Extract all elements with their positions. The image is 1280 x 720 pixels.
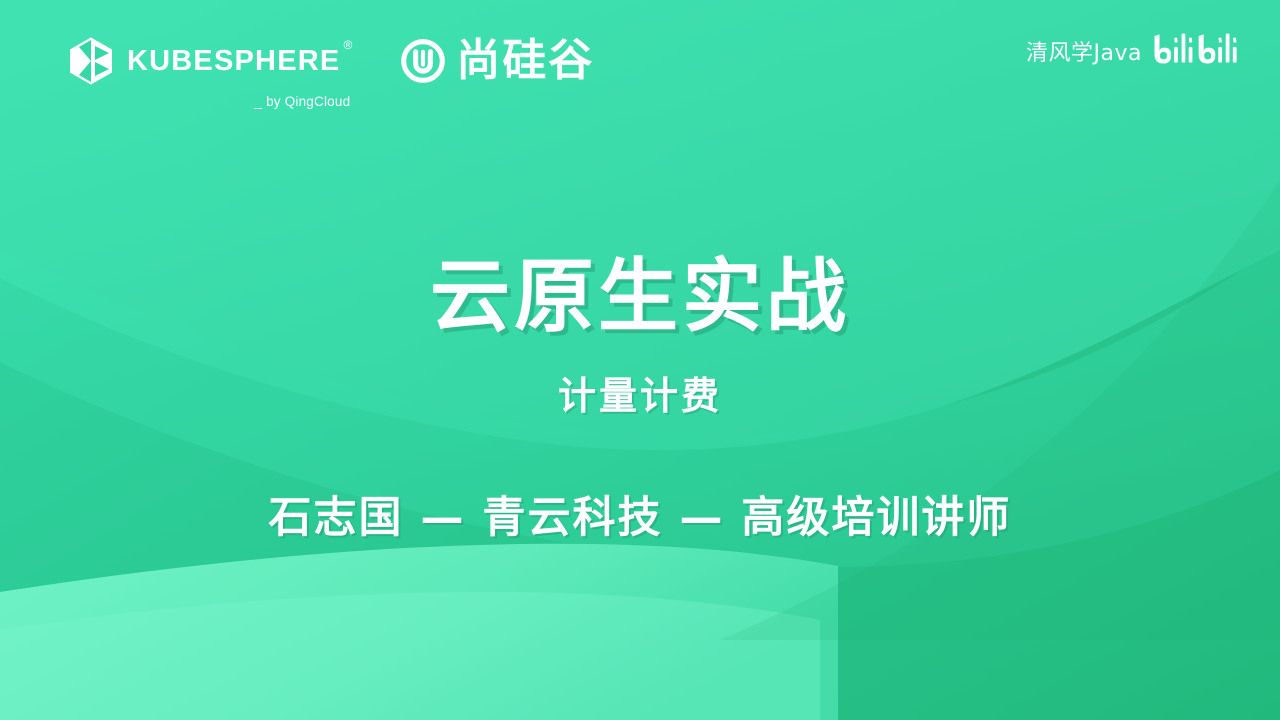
kubesphere-tagline: _ by QingCloud (254, 94, 350, 109)
presenter-credit: 石志国 — 青云科技 — 高级培训讲师 (0, 483, 1280, 545)
page-subtitle: 计量计费 (0, 365, 1280, 420)
channel-name: 清风学Java (1026, 35, 1142, 67)
channel-credit-group: 清风学Java (1026, 30, 1252, 72)
registered-trademark-icon: ® (343, 39, 352, 51)
page-title: 云原生实战 (0, 255, 1280, 339)
brand-logo-group: KUBESPHERE ® _ by QingCloud 尚硅谷 (66, 36, 594, 109)
atguigu-brand: 尚硅谷 (400, 38, 594, 84)
kubesphere-logo-row: KUBESPHERE ® (66, 36, 352, 86)
slide-header: KUBESPHERE ® _ by QingCloud 尚硅谷 清风学Java (0, 0, 1280, 130)
title-block: 云原生实战 计量计费 (0, 255, 1280, 420)
kubesphere-wordmark: KUBESPHERE (127, 47, 340, 76)
atguigu-wordmark: 尚硅谷 (456, 39, 594, 83)
course-title-slide: KUBESPHERE ® _ by QingCloud 尚硅谷 清风学Java (0, 0, 1280, 720)
kubesphere-hexagon-icon (66, 36, 116, 86)
atguigu-circle-u-icon (400, 38, 446, 84)
kubesphere-brand: KUBESPHERE ® _ by QingCloud (66, 36, 352, 109)
bilibili-logo-icon (1152, 30, 1252, 72)
